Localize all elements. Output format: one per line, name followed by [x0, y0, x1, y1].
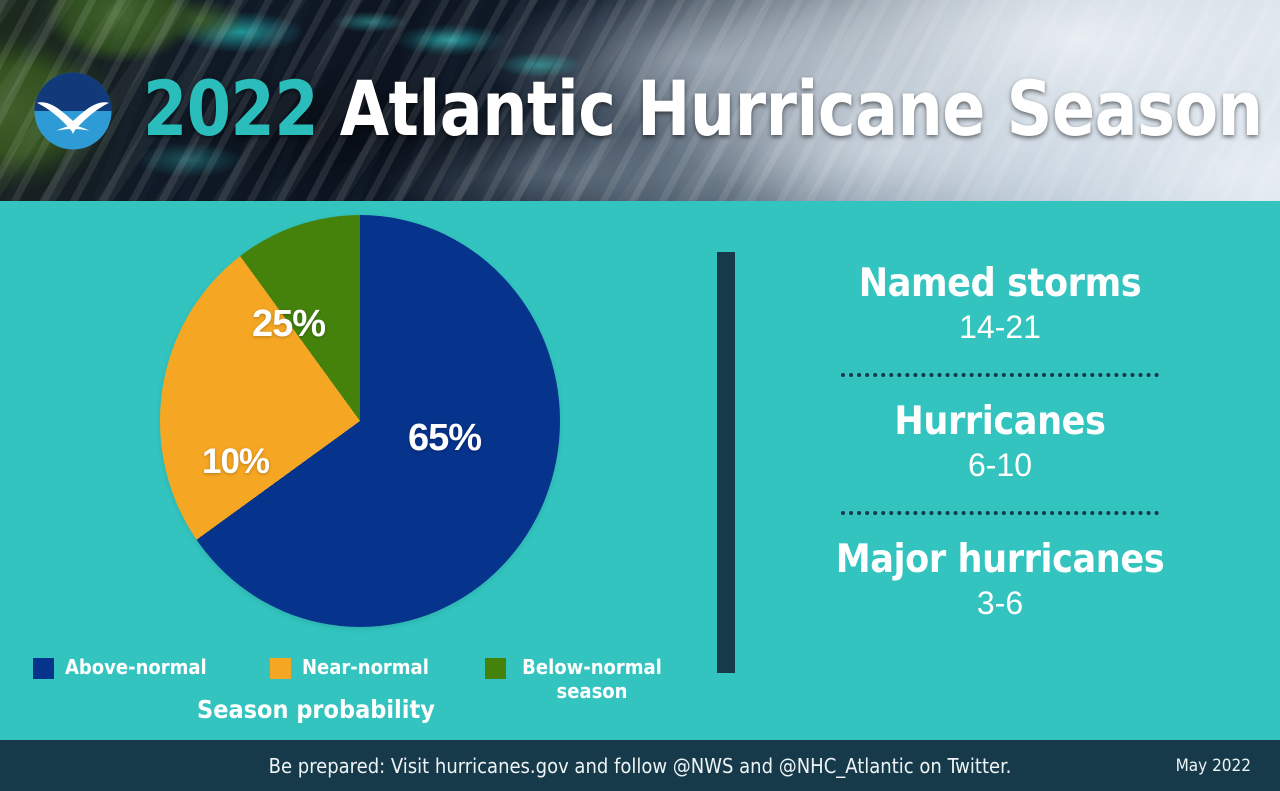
stat-divider-1 [841, 373, 1159, 377]
main-content: 65% 25% 10% Above-normal Near-normal Bel… [0, 201, 1280, 738]
legend-swatch-near-normal [270, 658, 291, 679]
noaa-logo-icon [32, 70, 114, 152]
legend-swatch-below-normal [485, 658, 506, 679]
legend-swatch-above-normal [33, 658, 54, 679]
pie-slice-label-near-normal: 25% [252, 305, 325, 343]
stat-value-hurricanes: 6-10 [790, 445, 1210, 485]
stat-value-major-hurricanes: 3-6 [790, 583, 1210, 623]
footer-message: Be prepared: Visit hurricanes.gov and fo… [0, 740, 1280, 791]
footer-date: May 2022 [1176, 740, 1251, 791]
page-title: 2022 Atlantic Hurricane Season Outlook [143, 66, 1280, 152]
pie-disc [160, 215, 560, 627]
pie-slice-label-above-normal: 65% [408, 419, 481, 457]
stat-value-named-storms: 14-21 [790, 307, 1210, 347]
legend-label-near-normal: Near-normal [302, 655, 429, 679]
stat-named-storms: Named storms 14-21 [790, 261, 1210, 347]
legend-label-below-normal: Below-normal season [517, 655, 667, 703]
stat-major-hurricanes: Major hurricanes 3-6 [790, 537, 1210, 623]
infographic-page: 2022 Atlantic Hurricane Season Outlook 6… [0, 0, 1280, 791]
legend-item-above-normal: Above-normal [33, 655, 207, 679]
chart-caption: Season probability [197, 695, 435, 724]
legend-item-below-normal: Below-normal season [485, 655, 667, 703]
stat-label-major-hurricanes: Major hurricanes [790, 537, 1210, 583]
footer-bar: Be prepared: Visit hurricanes.gov and fo… [0, 740, 1280, 791]
forecast-stats: Named storms 14-21 Hurricanes 6-10 Major… [790, 261, 1210, 623]
legend-item-near-normal: Near-normal [270, 655, 429, 679]
stat-label-hurricanes: Hurricanes [790, 399, 1210, 445]
stat-hurricanes: Hurricanes 6-10 [790, 399, 1210, 485]
stat-divider-2 [841, 511, 1159, 515]
legend-label-above-normal: Above-normal [65, 655, 207, 679]
title-text: Atlantic Hurricane Season Outlook [318, 64, 1280, 153]
title-year: 2022 [143, 64, 318, 153]
vertical-divider [717, 252, 735, 673]
pie-slice-label-below-normal: 10% [202, 443, 269, 481]
season-probability-pie-chart: 65% 25% 10% [160, 215, 560, 627]
header-banner: 2022 Atlantic Hurricane Season Outlook [0, 0, 1280, 201]
stat-label-named-storms: Named storms [790, 261, 1210, 307]
